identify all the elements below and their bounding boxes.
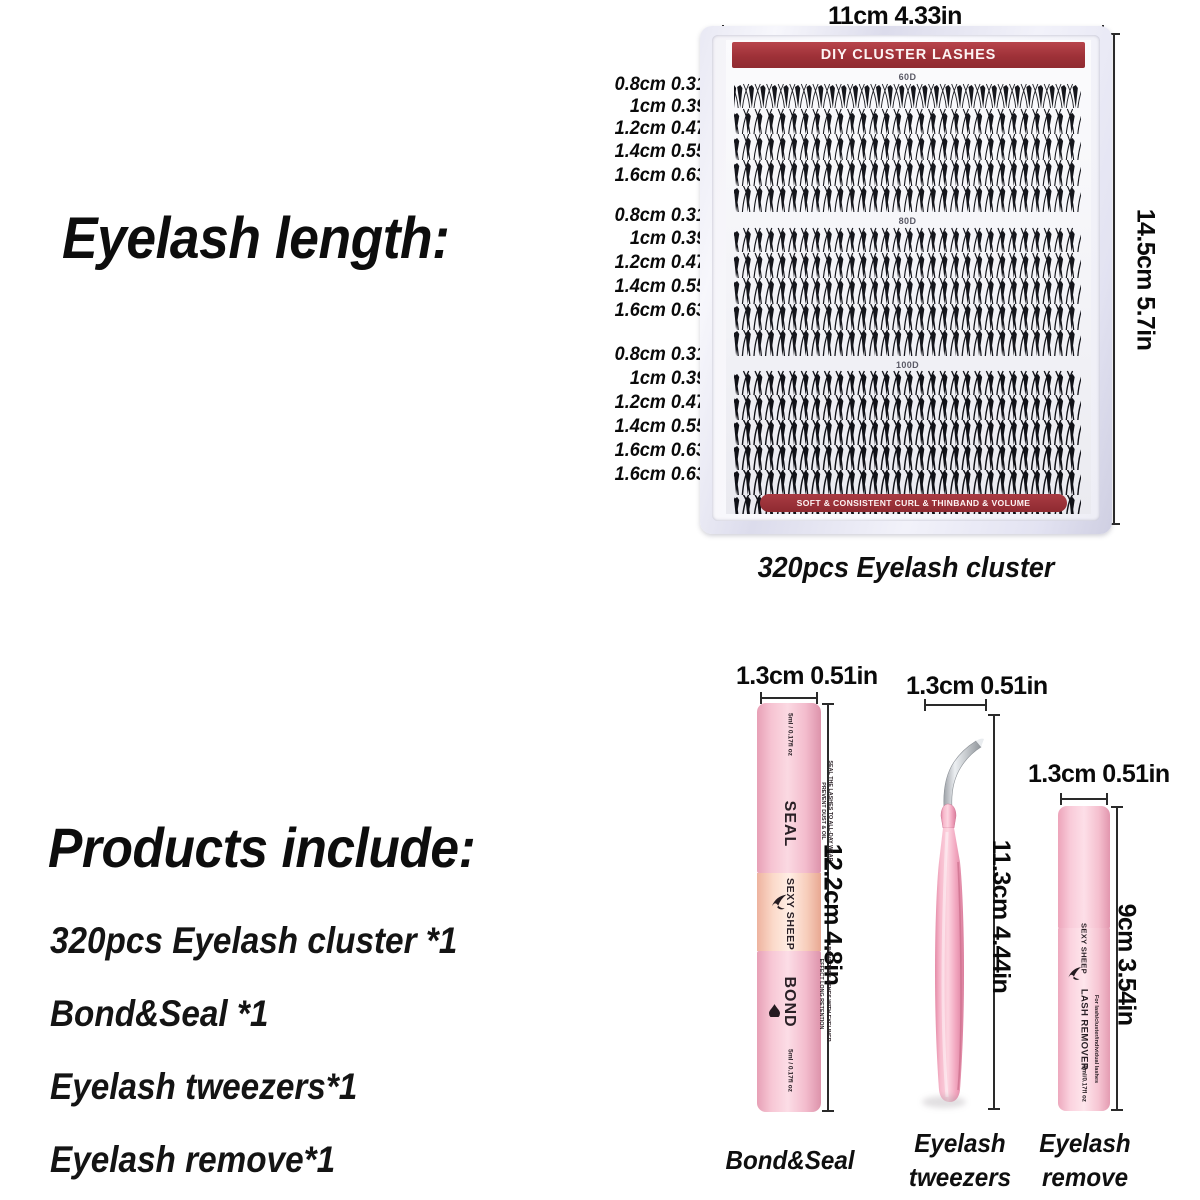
lash-row: 8 [734, 82, 1081, 108]
lash-row: 8 [734, 226, 1081, 252]
seal-description-text: SEAL THE LASHES TO ALL-DAY WEAR PREVENT … [819, 752, 833, 870]
lash-remover-cap [1058, 806, 1110, 928]
lash-remover-volume-text: 5ml/0.17fl oz [1081, 1047, 1088, 1121]
seal-volume-text: 5ml / 0.17fl oz [787, 698, 794, 772]
tweezers-width-dimension-label: 1.3cm 0.51in [906, 672, 1048, 701]
tube-bond-section: BOND BOND THE LASHES WITH EYELINER EFFEC… [757, 951, 821, 1112]
bond-seal-caption: Bond&Seal [706, 1145, 873, 1176]
lash-remover-width-dimension-label: 1.3cm 0.51in [1028, 760, 1170, 789]
tube-seal-section: 5ml / 0.17fl oz SEAL SEAL THE LASHES TO … [757, 703, 821, 873]
lash-row: 12 [734, 278, 1081, 304]
lash-remover-description-text: For lash/cluster/individual lashes [1093, 993, 1099, 1085]
tray-height-dimension-rule [1113, 33, 1115, 525]
bond-description-text: BOND THE LASHES WITH EYELINER EFFECT LON… [817, 936, 831, 1052]
lash-row: 10 [734, 395, 1081, 420]
lash-row: 8 [734, 370, 1081, 395]
lash-section-label-60d: 60D [899, 72, 917, 82]
lash-remover-caption-line1: Eyelash [1025, 1128, 1146, 1159]
lash-row: 14 [734, 160, 1081, 186]
lash-row: 14 [734, 304, 1081, 330]
tray-banner-title: DIY CLUSTER LASHES [732, 42, 1085, 68]
lash-tray-caption: 320pcs Eyelash cluster [714, 552, 1097, 585]
tweezers-width-dimension-rule [924, 704, 987, 706]
lash-section-label-100d: 100D [896, 360, 919, 370]
product-list-item-3: Eyelash remove*1 [50, 1139, 335, 1181]
lash-row: 10 [734, 252, 1081, 278]
tweezers-shadow [922, 1096, 966, 1108]
tweezers-caption-line1: Eyelash [900, 1128, 1021, 1159]
bond-drop-icon [769, 1004, 780, 1017]
lash-row: 10 [734, 108, 1081, 134]
tray-height-dimension-label: 14.5cm 5.7in [1131, 200, 1160, 360]
lash-row: 12 [734, 420, 1081, 445]
infographic-canvas: Eyelash length: 11cm 4.33in 14.5cm 5.7in… [0, 0, 1200, 1200]
seal-title-text: SEAL [780, 781, 798, 867]
bond-volume-text: 5ml / 0.17fl oz [787, 1034, 794, 1108]
page-title-products-include: Products include: [48, 815, 475, 880]
lash-section-100d: 100D 8 [734, 370, 1081, 514]
product-list-item-0: 320pcs Eyelash cluster *1 [50, 920, 457, 962]
lash-section-label-80d: 80D [899, 216, 917, 226]
sexy-sheep-logo-icon [769, 891, 791, 913]
lash-remover-body: SEXY SHEEP LASH REMOVER For lash/cluster… [1058, 928, 1110, 1111]
sexy-sheep-logo-icon [1066, 964, 1085, 983]
lash-row: 12 [734, 134, 1081, 160]
lash-remover-tube: SEXY SHEEP LASH REMOVER For lash/cluster… [1058, 806, 1110, 1111]
lash-row: 16 [734, 330, 1081, 356]
product-list-item-2: Eyelash tweezers*1 [50, 1066, 357, 1108]
tray-sheet: DIY CLUSTER LASHES 60D [726, 40, 1091, 514]
product-list-item-1: Bond&Seal *1 [50, 993, 268, 1035]
lash-row: 16 [734, 186, 1081, 212]
page-title-eyelash-length: Eyelash length: [62, 205, 449, 272]
eyelash-tweezers [910, 712, 992, 1112]
lash-remover-caption-line2: remove [1025, 1162, 1146, 1193]
tweezers-caption-line2: tweezers [900, 1162, 1021, 1193]
lash-tray-figure: DIY CLUSTER LASHES 60D [700, 26, 1112, 534]
lash-section-80d: 80D 8 [734, 226, 1081, 356]
lash-row: 14 [734, 445, 1081, 470]
tray-footer-text: SOFT & CONSISTENT CURL & THINBAND & VOLU… [760, 494, 1067, 512]
tube-brand-band: SEXY SHEEP [757, 873, 821, 951]
lash-section-60d: 60D [734, 82, 1081, 212]
bond-seal-tube: 5ml / 0.17fl oz SEAL SEAL THE LASHES TO … [757, 703, 821, 1112]
bond-seal-width-dimension-label: 1.3cm 0.51in [736, 662, 878, 691]
lash-remover-height-dimension-label: 9cm 3.54in [1112, 891, 1141, 1039]
brand-text-bond-seal: SEXY SHEEP [784, 878, 796, 948]
lash-row: 16 [734, 470, 1081, 495]
lash-remover-width-dimension-rule [1060, 798, 1108, 800]
